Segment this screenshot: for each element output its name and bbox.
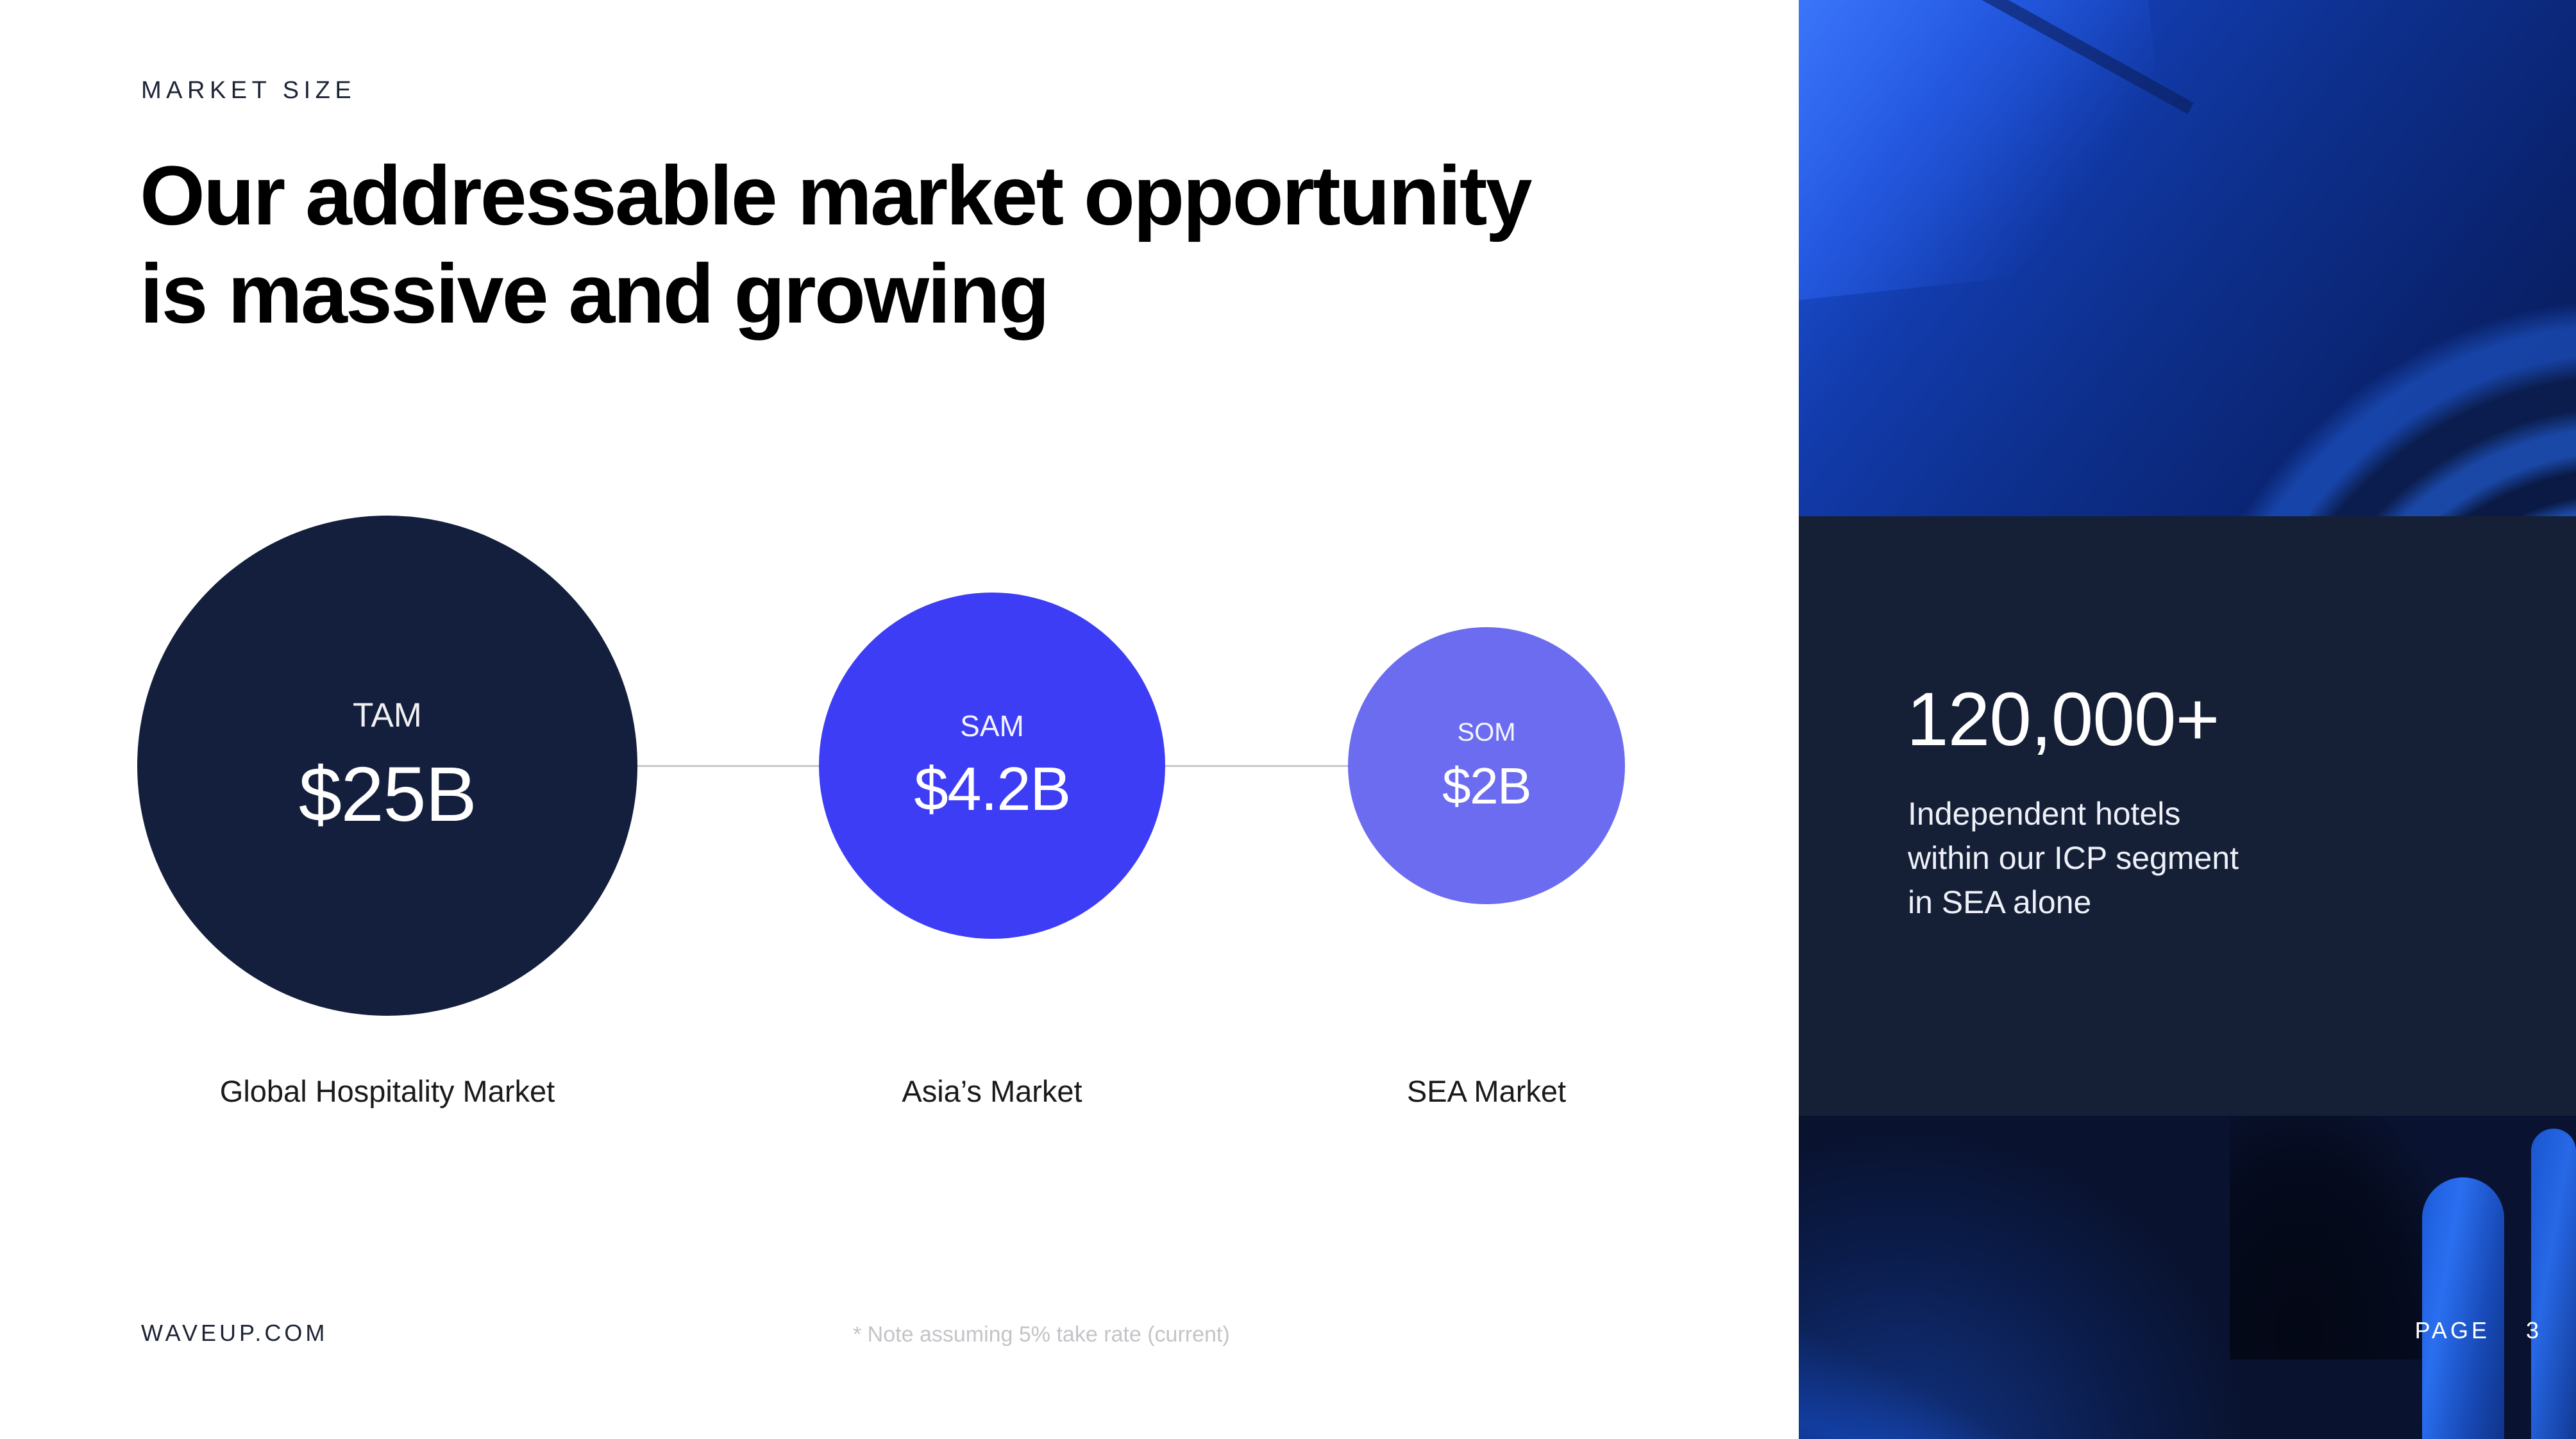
bubble-sam-label: SAM [960,711,1024,741]
bubble-tam[interactable]: TAM $25B [137,516,637,1016]
stat-description-line-3: in SEA alone [1908,880,2536,925]
bubble-tam-label: TAM [353,698,422,732]
slide: MARKET SIZE Our addressable market oppor… [0,0,2576,1439]
stat-description: Independent hotels within our ICP segmen… [1908,792,2536,925]
content-area: MARKET SIZE Our addressable market oppor… [0,0,1799,1439]
bubble-som[interactable]: SOM $2B [1348,627,1625,904]
stat-number: 120,000+ [1907,682,2219,757]
caption-tam: Global Hospitality Market [137,1073,637,1109]
page-indicator: PAGE 3 [2415,1317,2539,1344]
bubble-tam-value: $25B [299,755,476,833]
bottom-glow-shape [1799,1131,2248,1439]
stat-panel: 120,000+ Independent hotels within our I… [1799,516,2576,1116]
bubble-sam-value: $4.2B [914,759,1070,820]
bubble-som-value: $2B [1442,761,1531,812]
bubble-sam[interactable]: SAM $4.2B [819,593,1165,939]
right-column: 120,000+ Independent hotels within our I… [1799,0,2576,1439]
caption-sam: Asia’s Market [819,1073,1165,1109]
highlight-glow-shape [1799,0,2176,302]
market-size-chart: TAM $25B SAM $4.2B SOM $2B Global Hospit… [0,0,1799,1439]
stat-description-line-1: Independent hotels [1908,792,2536,836]
blade-shape-primary [2422,1177,2504,1439]
footer-note: * Note assuming 5% take rate (current) [853,1322,1230,1347]
blade-shape-secondary [2531,1129,2576,1439]
connector-line-sam-som [1154,765,1360,767]
decorative-image-bottom [1799,1116,2576,1439]
connector-line-tam-sam [616,765,840,767]
footer-website[interactable]: WAVEUP.COM [141,1320,328,1347]
caption-som: SEA Market [1348,1073,1625,1109]
page-number: 3 [2526,1317,2539,1344]
page-label: PAGE [2415,1317,2490,1344]
stat-description-line-2: within our ICP segment [1908,836,2536,880]
decorative-image-top [1799,0,2576,516]
bubble-som-label: SOM [1457,719,1515,745]
